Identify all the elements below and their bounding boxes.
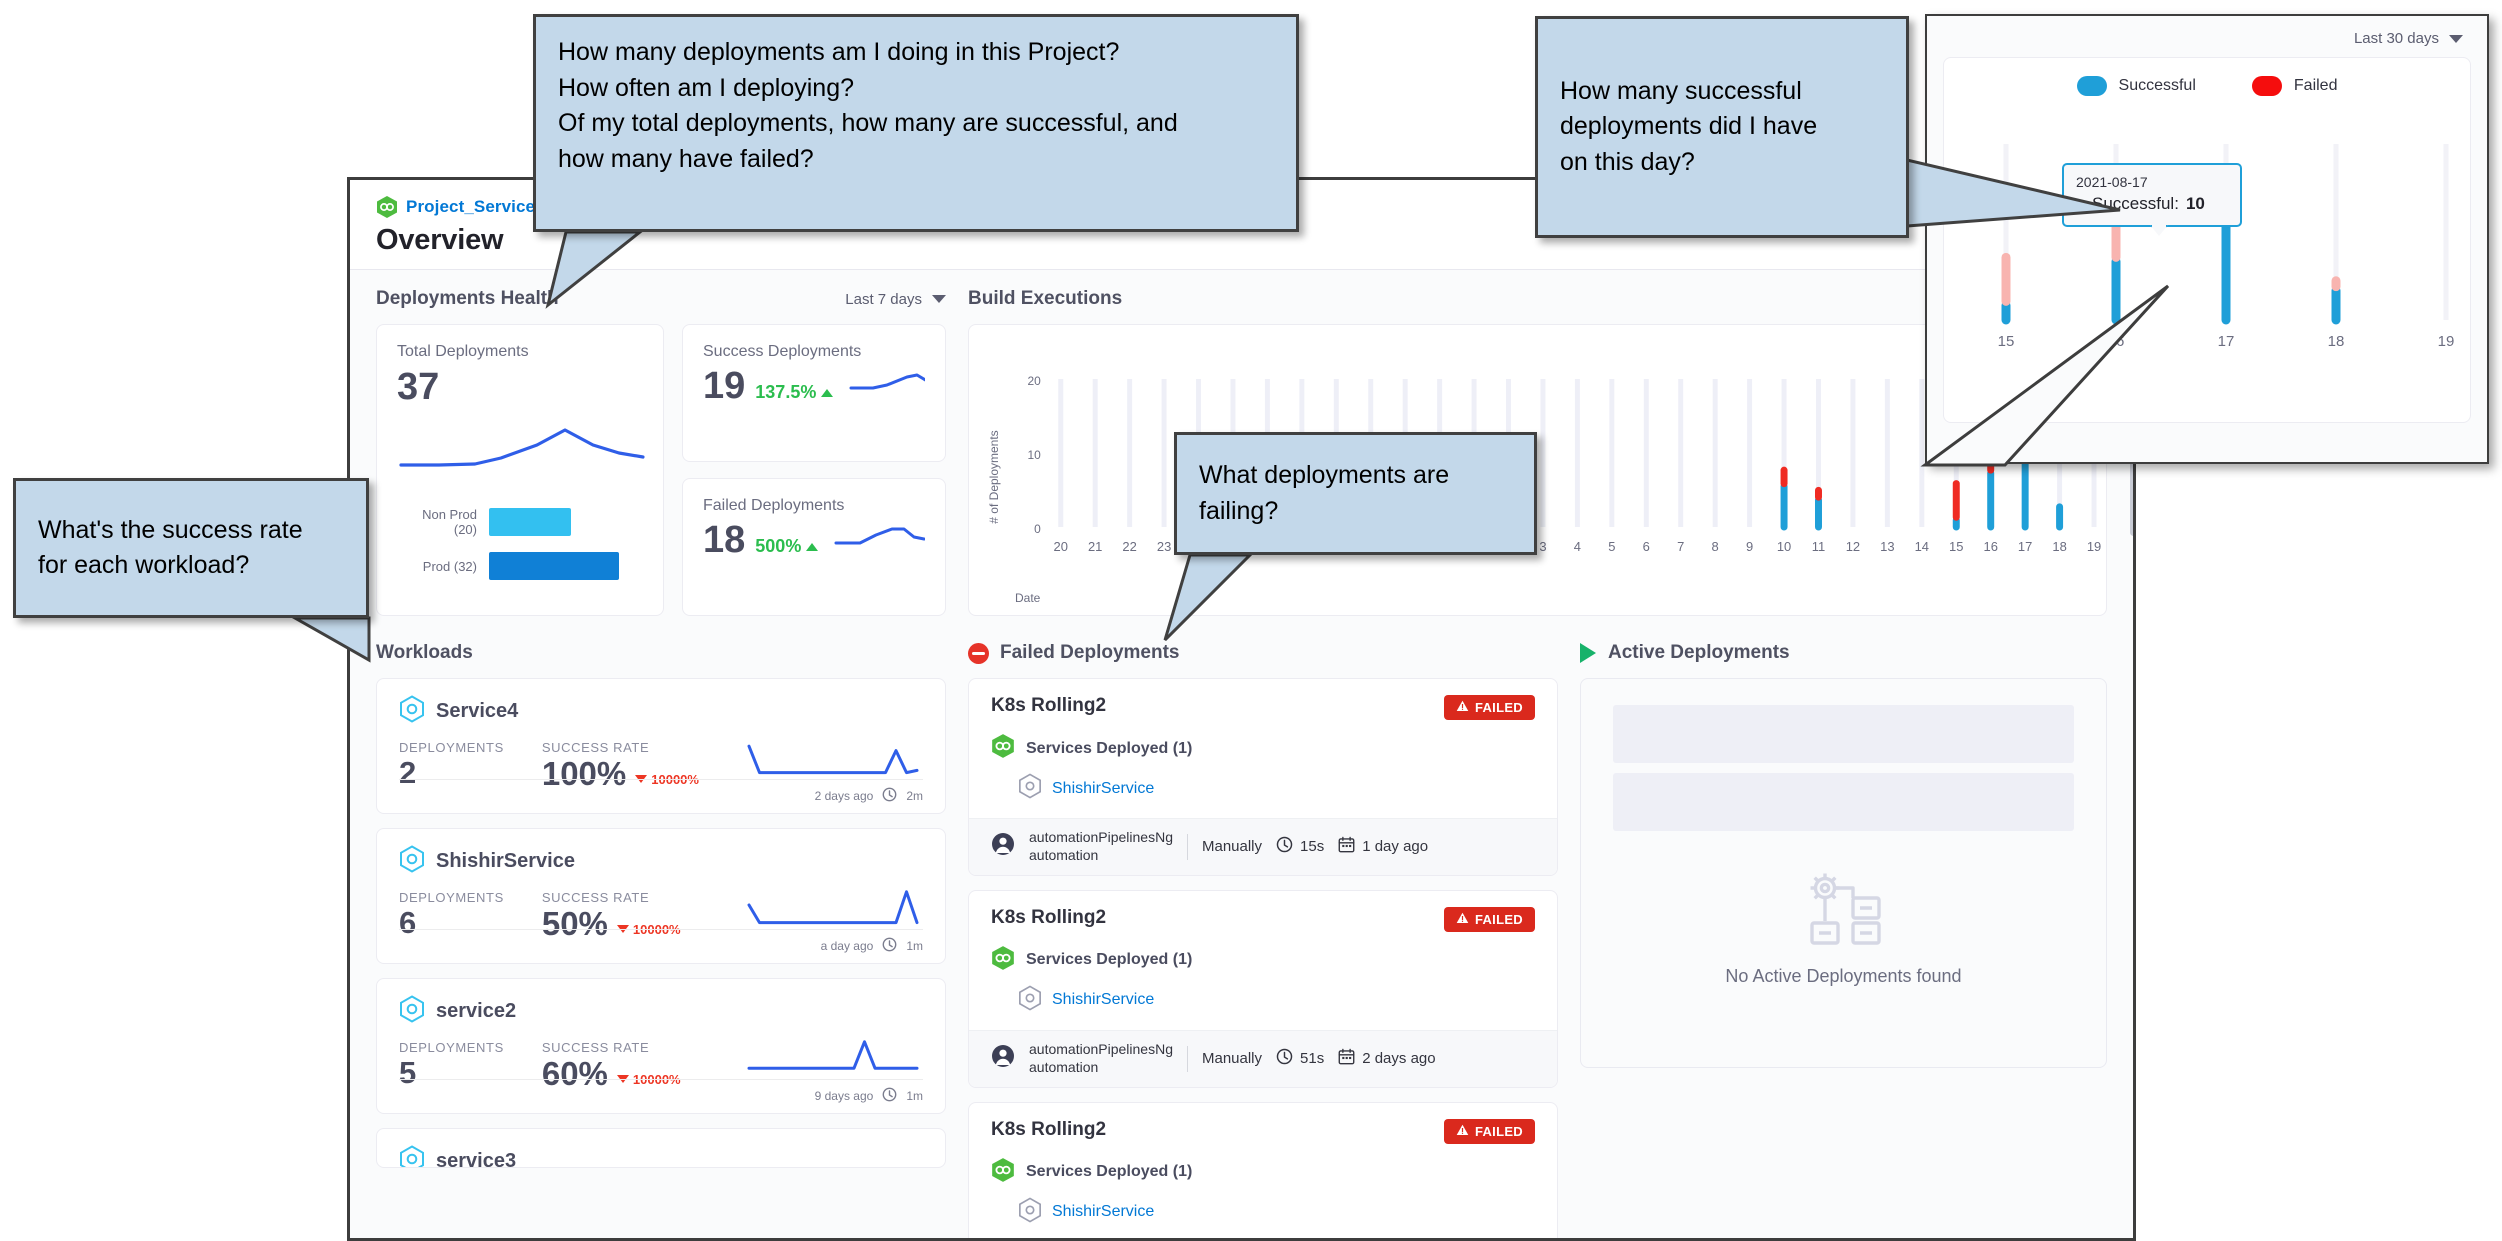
callout-successful-question: How many successful deployments did I ha… <box>1535 16 1909 238</box>
callout-success-rate-question: What's the success rate for each workloa… <box>13 478 369 618</box>
callout-successful-text: How many successful deployments did I ha… <box>1560 74 1817 181</box>
callout-success-rate-text: What's the success rate for each workloa… <box>38 513 303 584</box>
callout-failing-text: What deployments are failing? <box>1199 458 1449 529</box>
callout-failing-question: What deployments are failing? <box>1174 432 1537 555</box>
screenshot-stage: Project_ServiceL Overview Deployments He… <box>0 0 2502 1241</box>
callout-deployments-question: How many deployments am I doing in this … <box>533 14 1299 232</box>
callout-deployments-text: How many deployments am I doing in this … <box>558 35 1274 177</box>
